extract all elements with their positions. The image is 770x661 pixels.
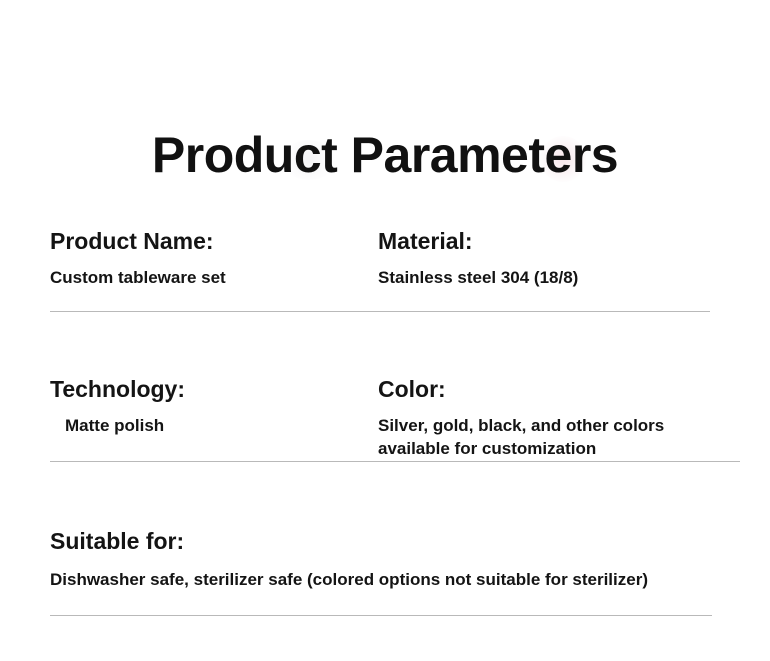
parameter-value: Custom tableware set: [50, 267, 370, 289]
parameter-label: Color:: [378, 376, 738, 402]
parameter-cell-product-name: Product Name: Custom tableware set: [50, 228, 370, 290]
product-parameters-sheet: Product Parameters Product Name: Custom …: [0, 0, 770, 661]
row-divider: [50, 311, 710, 312]
parameter-row: Suitable for: Dishwasher safe, sterilize…: [0, 528, 770, 608]
parameter-row: Product Name: Custom tableware set Mater…: [0, 228, 770, 306]
parameter-label: Suitable for:: [50, 528, 740, 554]
row-divider: [50, 615, 712, 616]
row-divider: [50, 461, 740, 462]
page-title: Product Parameters: [0, 128, 770, 183]
parameter-label: Material:: [378, 228, 738, 254]
parameter-cell-color: Color: Silver, gold, black, and other co…: [378, 376, 738, 460]
parameter-value: Stainless steel 304 (18/8): [378, 267, 738, 289]
parameter-value: Matte polish: [65, 415, 370, 437]
parameter-value: Dishwasher safe, sterilizer safe (colore…: [50, 569, 740, 591]
parameter-value: Silver, gold, black, and other colors av…: [378, 415, 738, 459]
parameter-label: Technology:: [50, 376, 370, 402]
parameter-label: Product Name:: [50, 228, 370, 254]
parameter-row: Technology: Matte polish Color: Silver, …: [0, 376, 770, 454]
parameter-cell-technology: Technology: Matte polish: [50, 376, 370, 438]
parameter-cell-material: Material: Stainless steel 304 (18/8): [378, 228, 738, 290]
parameter-cell-suitable-for: Suitable for: Dishwasher safe, sterilize…: [50, 528, 740, 592]
